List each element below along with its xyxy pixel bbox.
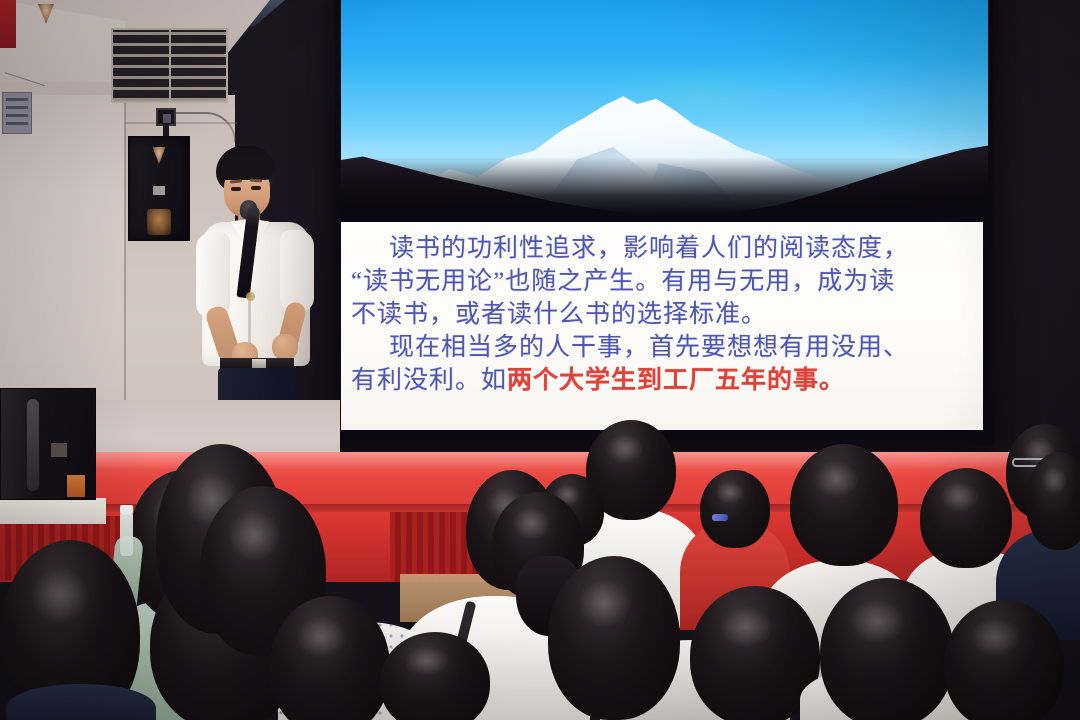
photo-bottom-fade [341,157,988,215]
presenter-sleeve-left [196,232,230,318]
presentation-slide: 读书的功利性追求，影响着人们的阅读态度， “读书无用论”也随之产生。有用与无用，… [341,0,988,440]
wall-speaker-icon [128,136,190,241]
presenter-eye-right [251,186,261,190]
water-dispenser-icon [0,388,96,500]
speaker-badge [153,186,165,195]
front-table [400,574,700,622]
dispenser-table [0,498,106,524]
grille-right-half [171,30,227,101]
audience-shoulders [6,684,156,720]
audience-shoulders [278,622,448,720]
presenter-eye-left [231,187,241,191]
presenter-hair-fringe [218,158,274,180]
dispenser-cup [67,475,85,497]
slide-line-1: 读书的功利性追求，影响着人们的阅读态度， [351,232,969,265]
dispenser-badge [51,443,67,457]
slide-mountain-photo [341,0,988,215]
wall-vent-small-icon [2,92,32,134]
lecture-photo-scene: 读书的功利性追求，影响着人们的阅读态度， “读书无用论”也随之产生。有用与无用，… [0,0,1080,720]
air-grille-icon [111,28,228,103]
presenter-sleeve-right [280,230,314,312]
audience-head [944,600,1064,720]
grille-left-half [113,30,171,101]
slide-line-4: 现在相当多的人干事，首先要想想有用没用、 [351,331,969,364]
slide-text-card: 读书的功利性追求，影响着人们的阅读态度， “读书无用论”也随之产生。有用与无用，… [341,222,983,430]
slide-line-1-text: 读书的功利性追求，影响着人们的阅读态度， [389,235,909,262]
slide-line-2: “读书无用论”也随之产生。有用与无用，成为读 [351,265,969,298]
speaker-woofer [147,209,171,235]
slide-line-5-text-highlight: 两个大学生到工厂五年的事。 [507,367,845,394]
slide-line-3-text: 不读书，或者读什么书的选择标准。 [351,301,767,328]
audience-shoulders [600,640,790,720]
audience-head [690,586,820,720]
stage-skirt-left [0,516,300,580]
stage-front-edge [0,504,1080,512]
slide-line-4-text: 现在相当多的人干事，首先要想想有用没用、 [389,334,909,361]
red-corner-accent [0,0,16,48]
speaker-tweeter [153,147,166,164]
stage-platform-highlight [0,452,1080,470]
slide-line-5: 有利没利。如两个大学生到工厂五年的事。 [351,364,969,397]
audience-shoulders [96,600,246,720]
slide-line-5-text-blue: 有利没利。如 [351,367,507,394]
audience-head [150,560,300,720]
stage-skirt-center [390,512,640,582]
audience-shoulders [800,666,970,720]
audience-head [270,596,390,720]
audience-head [820,578,954,720]
audience-head [380,632,490,720]
dispenser-strip [27,399,39,491]
slide-line-3: 不读书，或者读什么书的选择标准。 [351,298,969,331]
microphone-ring [246,292,255,301]
presenter-hand-right [272,334,298,360]
slide-line-2-text: “读书无用论”也随之产生。有用与无用，成为读 [351,268,895,295]
